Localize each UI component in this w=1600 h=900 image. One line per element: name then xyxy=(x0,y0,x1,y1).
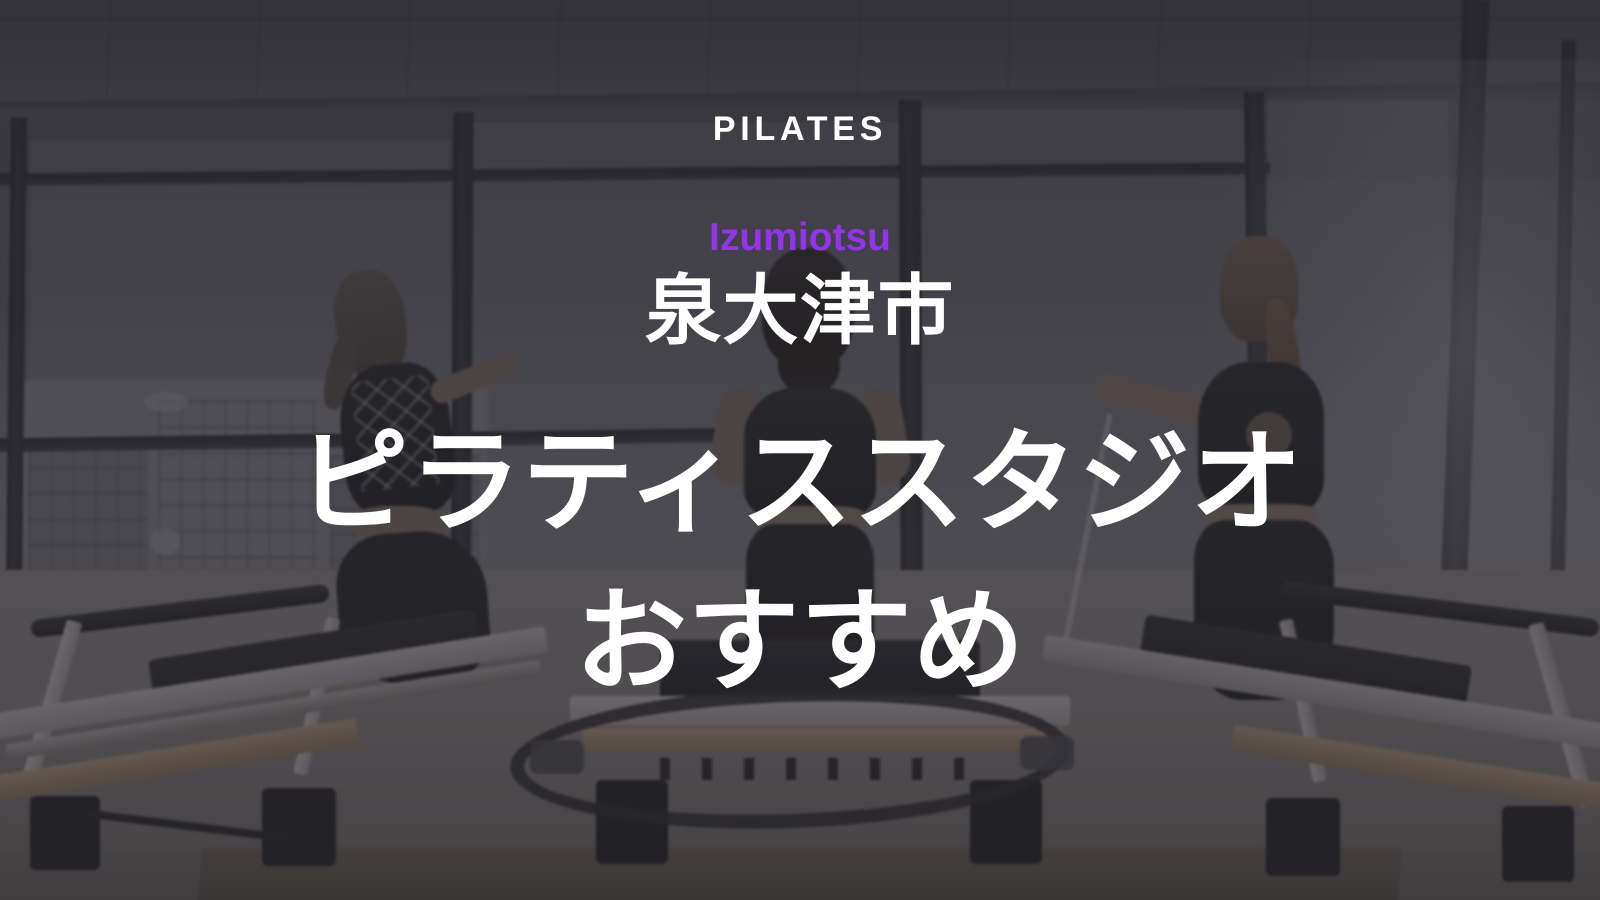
city-romaji-label: Izumiotsu xyxy=(709,218,891,257)
hero-text-layer: PILATES Izumiotsu 泉大津市 ピラティススタジオ おすすめ xyxy=(0,0,1600,900)
page-title: ピラティススタジオ おすすめ xyxy=(297,403,1303,721)
city-name-label: 泉大津市 xyxy=(645,267,955,357)
hero-banner: PILATES Izumiotsu 泉大津市 ピラティススタジオ おすすめ xyxy=(0,0,1600,900)
headline-line-1: ピラティススタジオ xyxy=(297,403,1303,562)
kicker-label: PILATES xyxy=(713,112,887,146)
headline-line-2: おすすめ xyxy=(297,562,1303,721)
